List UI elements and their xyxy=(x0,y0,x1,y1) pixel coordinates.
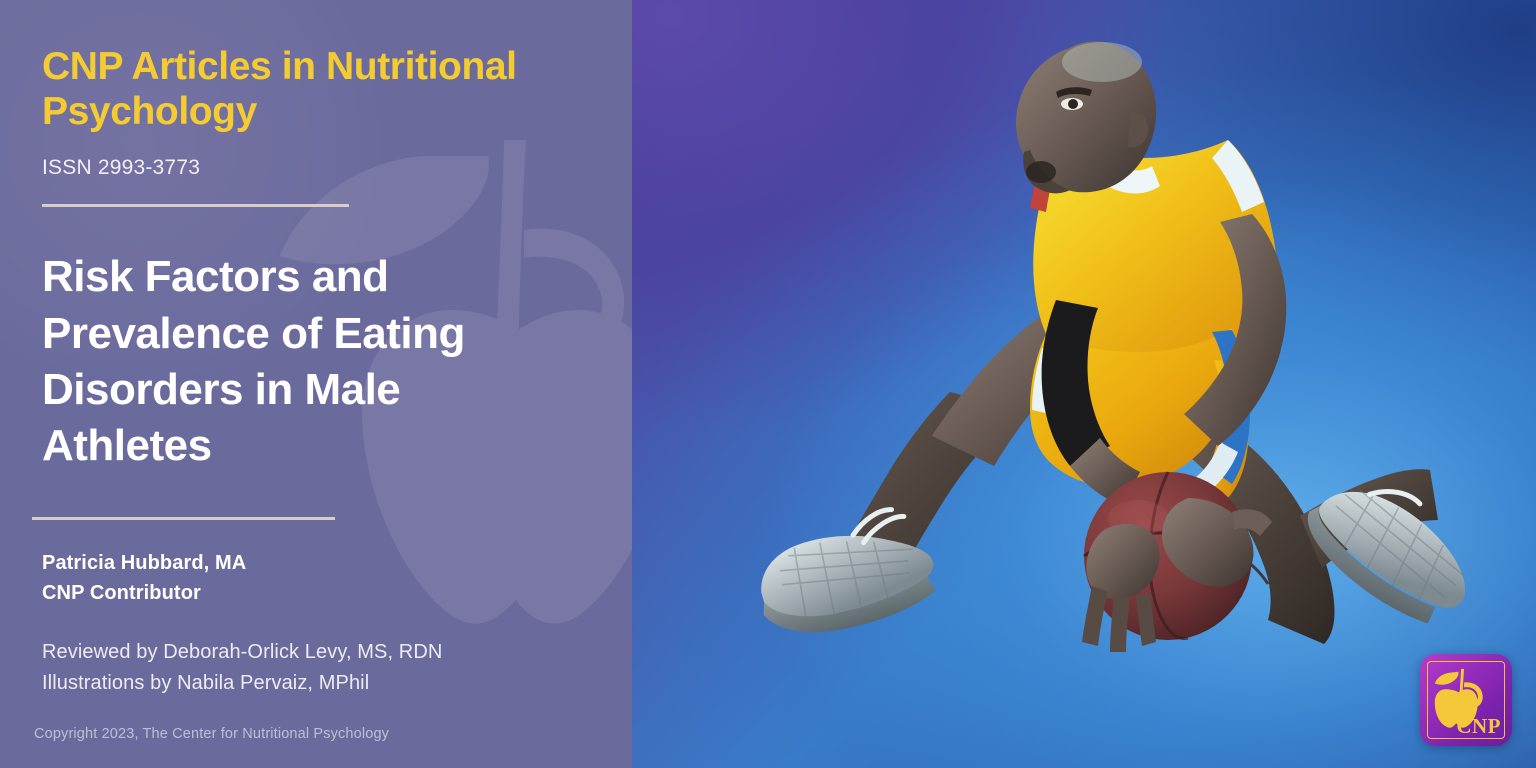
divider-lower xyxy=(32,517,335,520)
issn-label: ISSN 2993-3773 xyxy=(42,156,592,180)
divider-upper xyxy=(42,204,349,207)
article-cover: CNP Articles in Nutritional Psychology I… xyxy=(0,0,1536,768)
copyright-notice: Copyright 2023, The Center for Nutrition… xyxy=(34,726,389,742)
cover-left-panel: CNP Articles in Nutritional Psychology I… xyxy=(0,0,632,768)
cnp-logo-badge[interactable]: CNP xyxy=(1420,654,1512,746)
illustrations-by: Illustrations by Nabila Pervaiz, MPhil xyxy=(42,668,592,699)
cnp-logo-frame: CNP xyxy=(1427,661,1505,739)
basketball-player-photo xyxy=(632,0,1536,768)
author-block: Patricia Hubbard, MA CNP Contributor xyxy=(42,548,592,609)
reviewed-by: Reviewed by Deborah-Orlick Levy, MS, RDN xyxy=(42,637,592,668)
masthead-title: CNP Articles in Nutritional Psychology xyxy=(42,44,562,134)
author-role: CNP Contributor xyxy=(42,578,592,608)
cnp-logo-text: CNP xyxy=(1456,716,1501,737)
author-name: Patricia Hubbard, MA xyxy=(42,548,592,578)
cover-photo-panel: CNP xyxy=(632,0,1536,768)
article-title: Risk Factors and Prevalence of Eating Di… xyxy=(42,249,512,474)
divider-lower-wrap xyxy=(32,517,592,520)
credits-block: Reviewed by Deborah-Orlick Levy, MS, RDN… xyxy=(42,637,592,699)
